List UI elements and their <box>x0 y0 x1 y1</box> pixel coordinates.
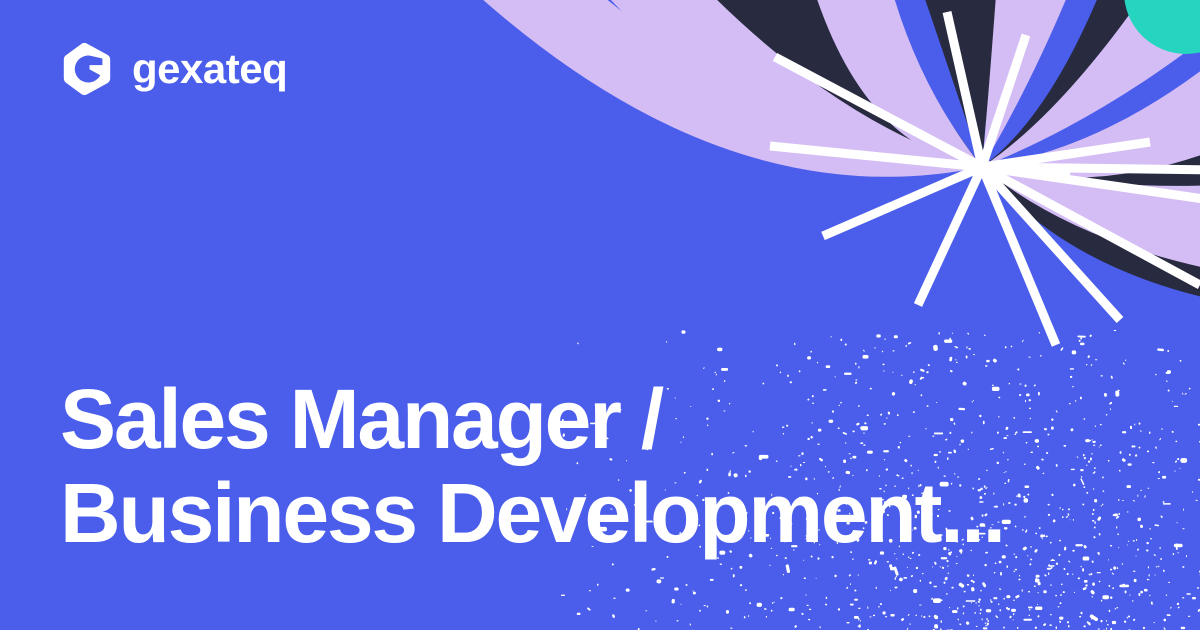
hexagon-g-logo-icon <box>62 42 112 96</box>
page-title: Sales Manager / Business Development... <box>60 372 1150 560</box>
page-title-line-1: Sales Manager / <box>60 372 1150 466</box>
dark-fan-shapes <box>640 0 1200 300</box>
brand-lockup[interactable]: gexateq <box>62 42 287 96</box>
teal-accent-circle <box>1124 0 1200 54</box>
petal-arcs <box>420 0 1200 270</box>
job-card: gexateq Sales Manager / Business Develop… <box>0 0 1200 630</box>
brand-name: gexateq <box>132 48 287 90</box>
starburst-rays <box>770 12 1200 345</box>
page-title-line-2: Business Development... <box>60 466 1150 560</box>
